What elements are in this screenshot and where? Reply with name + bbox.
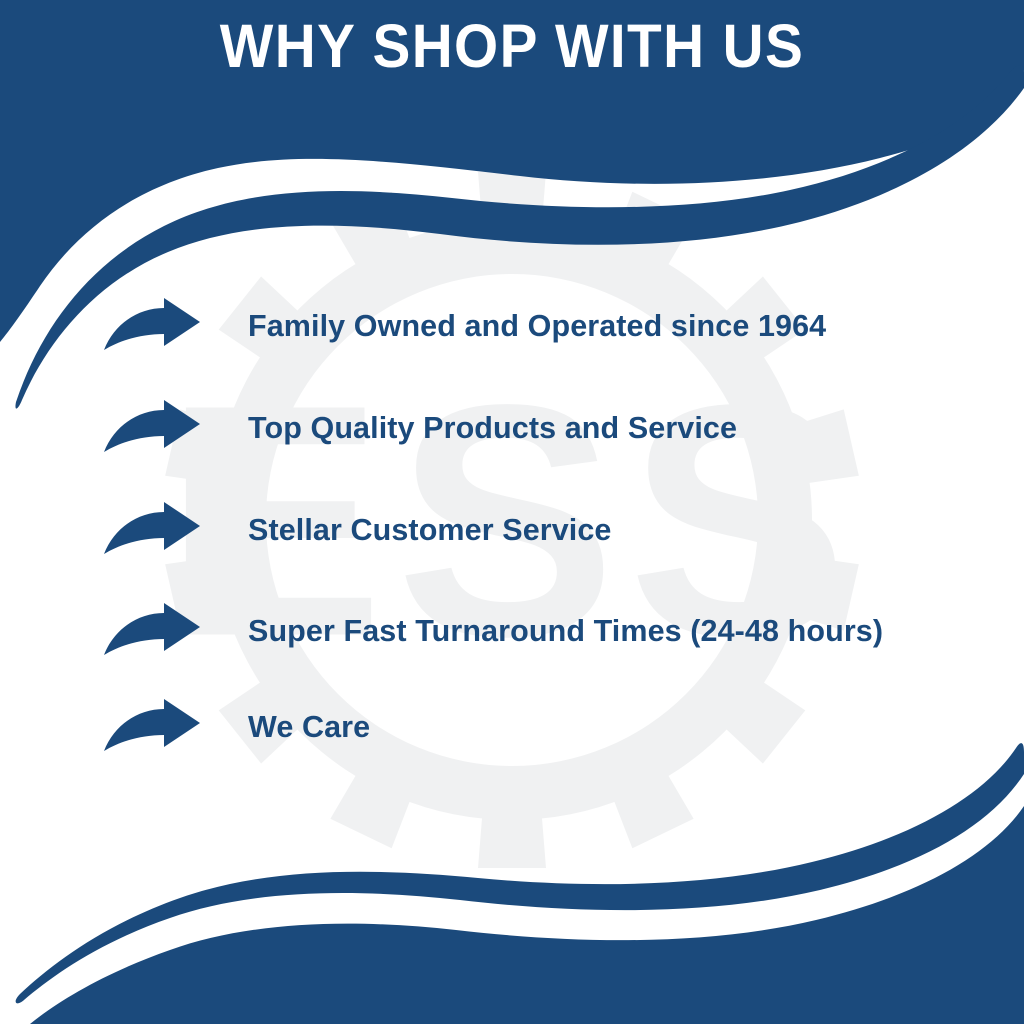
promo-graphic: ESS WHY SHOP WITH US Family Owned and Op… xyxy=(0,0,1024,1024)
benefits-list: Family Owned and Operated since 1964 Top… xyxy=(0,0,1024,1024)
list-item: Super Fast Turnaround Times (24-48 hours… xyxy=(104,603,883,659)
curved-arrow-right-icon xyxy=(104,699,202,755)
list-item-label: Family Owned and Operated since 1964 xyxy=(248,311,826,342)
list-item-label: We Care xyxy=(248,712,370,743)
list-item: Stellar Customer Service xyxy=(104,502,612,558)
curved-arrow-right-icon xyxy=(104,298,202,354)
list-item-label: Stellar Customer Service xyxy=(248,515,612,546)
list-item: Family Owned and Operated since 1964 xyxy=(104,298,826,354)
list-item: Top Quality Products and Service xyxy=(104,400,737,456)
curved-arrow-right-icon xyxy=(104,603,202,659)
list-item-label: Super Fast Turnaround Times (24-48 hours… xyxy=(248,616,883,647)
list-item: We Care xyxy=(104,699,370,755)
page-title: WHY SHOP WITH US xyxy=(36,14,988,80)
curved-arrow-right-icon xyxy=(104,502,202,558)
curved-arrow-right-icon xyxy=(104,400,202,456)
list-item-label: Top Quality Products and Service xyxy=(248,413,737,444)
